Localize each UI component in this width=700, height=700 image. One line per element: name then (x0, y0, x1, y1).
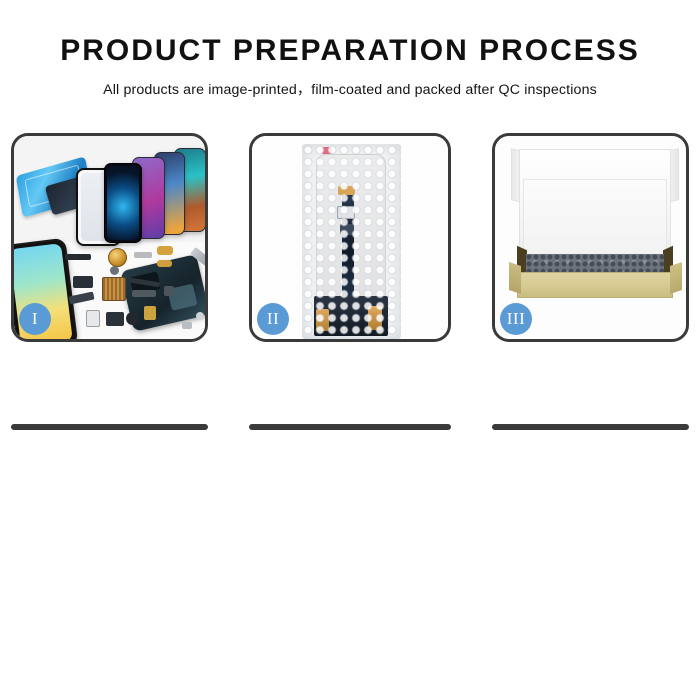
screwdriver-bit (182, 322, 192, 329)
taptic-engine-part (106, 312, 124, 326)
pink-label-sticker (322, 147, 332, 154)
gold-contact-left (316, 309, 329, 331)
camera-module-part (73, 276, 93, 288)
white-connector-chip (337, 206, 355, 219)
wireless-charging-coil (108, 248, 127, 267)
battery-connector-part (144, 306, 156, 320)
gold-connector-top (338, 186, 355, 195)
process-step-1[interactable]: I (11, 133, 208, 342)
gold-bracket-part (157, 260, 172, 267)
bubble-wrap-bag (302, 144, 401, 339)
process-step-2[interactable]: II (249, 133, 451, 342)
box-front-corner-left (509, 262, 521, 294)
box-front-corner-right (670, 262, 682, 294)
box-front-panel (517, 272, 673, 298)
process-step-4[interactable]: Mobile Phone Spare Parts Mobile Phone Sp… (11, 424, 208, 430)
rear-camera-lens (126, 312, 139, 325)
process-step-6[interactable]: VI (492, 424, 689, 430)
gold-contact-right (368, 306, 382, 330)
screw-plate-part (164, 286, 174, 296)
small-screw (196, 312, 204, 320)
volume-button-flex (132, 290, 156, 297)
flex-cable-part (134, 252, 152, 258)
step-badge-2: II (257, 303, 289, 335)
phone-display-blue (104, 163, 142, 243)
earpiece-speaker-part (65, 254, 91, 260)
dark-ic-chip (340, 224, 354, 235)
gold-connector-part (157, 246, 173, 255)
process-step-3[interactable]: III (492, 133, 689, 342)
page-header: PRODUCT PREPARATION PROCESS All products… (0, 0, 700, 99)
process-step-grid: I II (11, 133, 689, 633)
step-badge-1: I (19, 303, 51, 335)
sim-tray-part (86, 310, 100, 327)
home-button-part (110, 266, 119, 275)
logic-board-chip (102, 277, 126, 301)
step-badge-3: III (500, 303, 532, 335)
white-foam-sheet (523, 179, 667, 257)
process-step-5[interactable]: V (249, 424, 451, 430)
page-title: PRODUCT PREPARATION PROCESS (0, 36, 700, 66)
page-subtitle: All products are image-printed，film-coat… (0, 79, 700, 99)
